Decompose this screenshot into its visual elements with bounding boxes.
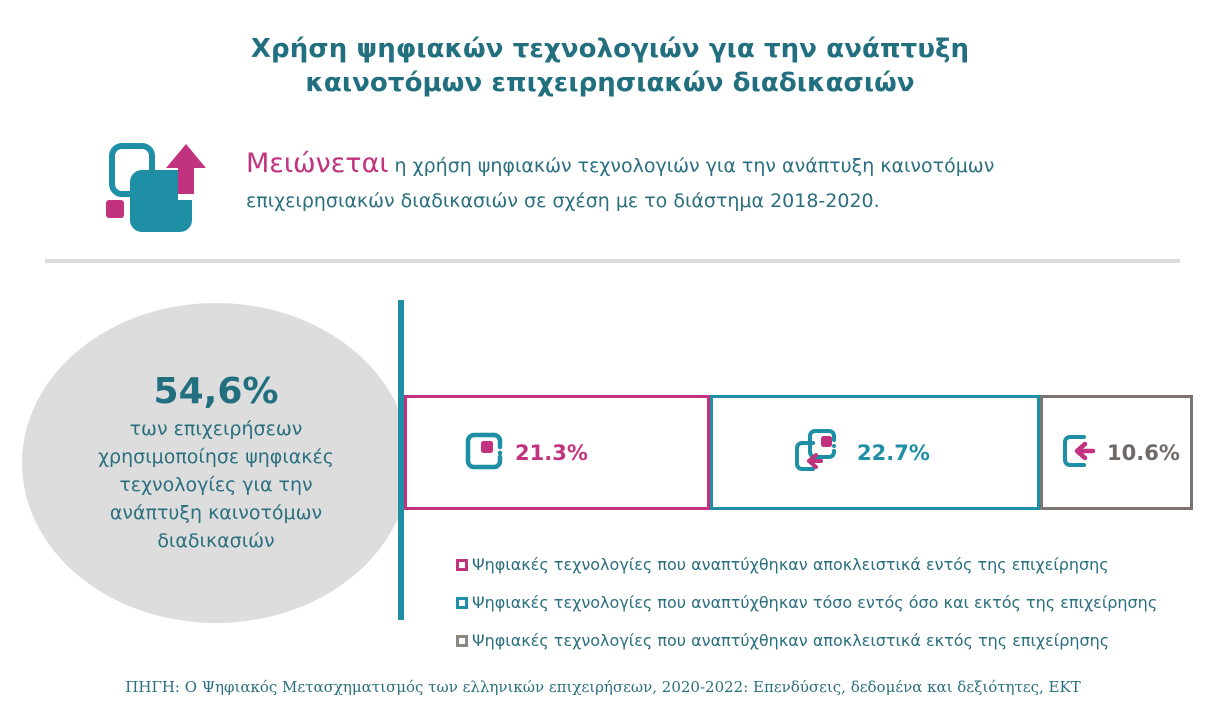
legend-label: Ψηφιακές τεχνολογίες που αναπτύχθηκαν τό… (472, 593, 1157, 613)
lead-emphasis: Μειώνεται (246, 148, 389, 179)
callout-value: 54,6% (154, 371, 279, 413)
legend-marker-icon (456, 559, 468, 571)
stacked-bar-chart: 21.3% 22.7% (404, 395, 1193, 510)
legend-marker-icon (456, 597, 468, 609)
bar-segment-value: 21.3% (515, 441, 588, 465)
chart-legend: Ψηφιακές τεχνολογίες που αναπτύχθηκαν απ… (456, 546, 1196, 660)
square-in-box-icon (463, 430, 505, 476)
bar-segment-value: 10.6% (1107, 441, 1180, 465)
legend-marker-icon (456, 635, 468, 647)
lead-paragraph: Μειώνεται η χρήση ψηφιακών τεχνολογιών γ… (246, 146, 1036, 219)
two-boxes-arrow-icon (791, 426, 843, 480)
legend-item[interactable]: Ψηφιακές τεχνολογίες που αναπτύχθηκαν απ… (456, 622, 1196, 660)
callout-caption: των επιχειρήσεων χρησιμοποίησε ψηφιακές … (71, 415, 361, 555)
box-arrow-in-icon (1057, 429, 1103, 477)
legend-label: Ψηφιακές τεχνολογίες που αναπτύχθηκαν απ… (472, 631, 1109, 651)
legend-item[interactable]: Ψηφιακές τεχνολογίες που αναπτύχθηκαν απ… (456, 546, 1196, 584)
bar-segment-internal[interactable]: 21.3% (404, 395, 710, 510)
source-note: ΠΗΓΗ: Ο Ψηφιακός Μετασχηματισμός των ελλ… (0, 678, 1206, 696)
bar-segment-value: 22.7% (857, 441, 930, 465)
page-title: Χρήση ψηφιακών τεχνολογιών για την ανάπτ… (160, 32, 1060, 100)
device-up-arrow-icon (84, 136, 208, 236)
legend-item[interactable]: Ψηφιακές τεχνολογίες που αναπτύχθηκαν τό… (456, 584, 1196, 622)
legend-label: Ψηφιακές τεχνολογίες που αναπτύχθηκαν απ… (472, 555, 1109, 575)
bar-segment-external[interactable]: 10.6% (1040, 395, 1193, 510)
section-divider (45, 259, 1180, 263)
callout-ellipse: 54,6% των επιχειρήσεων χρησιμοποίησε ψηφ… (22, 303, 410, 623)
bar-segment-both[interactable]: 22.7% (710, 395, 1040, 510)
